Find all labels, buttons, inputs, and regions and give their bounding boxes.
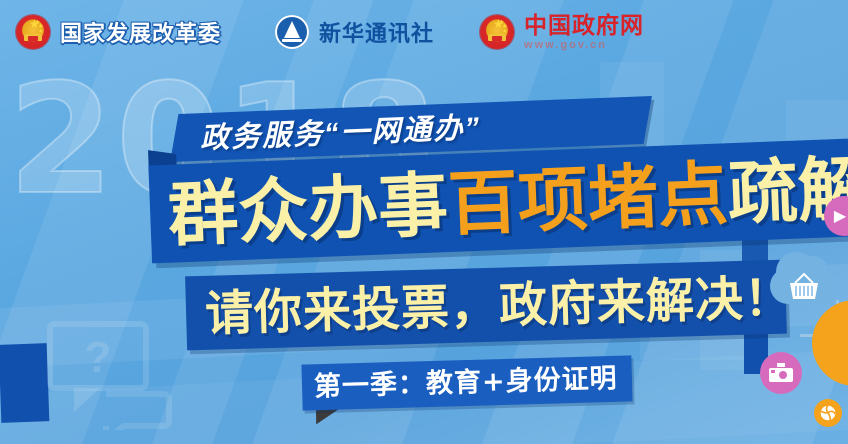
headline-part-1: 群众办事: [167, 164, 450, 257]
flat-accent-block: [0, 343, 49, 423]
campaign-banner: 2018 ? ★★ ★★ ★ 国家发展改革委: [0, 0, 848, 444]
question-bubble-icon: ?: [44, 320, 194, 430]
svg-text:?: ?: [85, 333, 112, 382]
logo-ndrc: ★★ ★★ ★ 国家发展改革委: [16, 15, 221, 49]
globe-badge-icon: [814, 399, 842, 427]
gov-url-text: www.gov.cn: [524, 39, 607, 51]
headline-part-2: 百项堵点: [446, 153, 729, 246]
camera-badge-icon: [760, 352, 802, 394]
logo-xinhua: 新华通讯社: [275, 15, 434, 49]
logo-label-gov: 中国政府网: [524, 13, 644, 37]
cloud-shopping-icon: [770, 268, 836, 304]
logo-url-gov: www.gov.cn: [524, 39, 644, 51]
globe-icon: [818, 403, 838, 423]
camera-icon: [768, 363, 794, 383]
national-emblem-icon: ★★ ★★ ★: [480, 15, 514, 49]
national-emblem-icon: ★★ ★★ ★: [16, 15, 50, 49]
logo-label-ndrc: 国家发展改革委: [60, 16, 221, 48]
shopping-basket-icon: [786, 272, 822, 302]
logo-gov: ★★ ★★ ★ 中国政府网 www.gov.cn: [480, 13, 644, 51]
xinhua-pagoda-icon: [275, 15, 309, 49]
logo-label-gov-wrap: 中国政府网 www.gov.cn: [524, 13, 644, 51]
logo-label-xinhua: 新华通讯社: [319, 16, 434, 48]
logo-header: ★★ ★★ ★ 国家发展改革委 新华通讯社 ★★ ★★ ★ 中国政府网 www.…: [0, 0, 848, 64]
